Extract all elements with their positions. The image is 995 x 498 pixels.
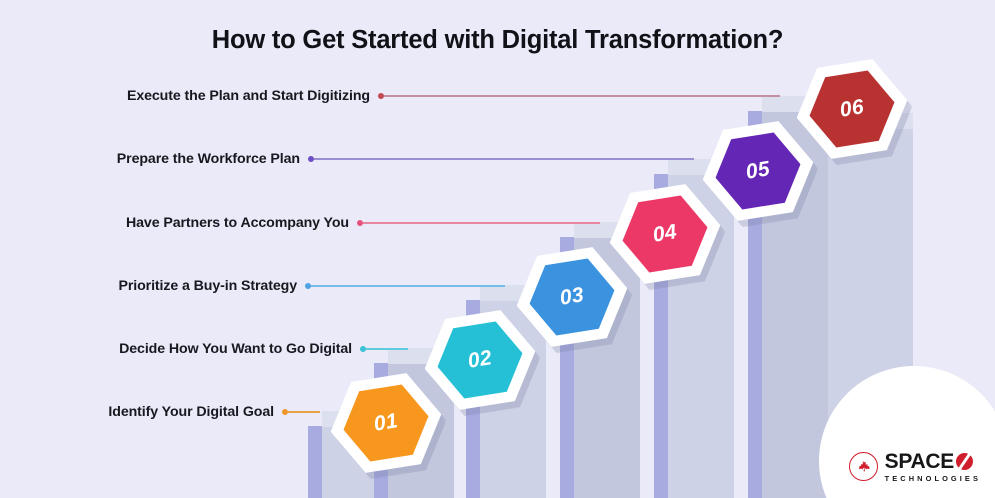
badge-number-06: 06 bbox=[838, 95, 866, 122]
logo-o-icon bbox=[956, 453, 973, 470]
logo-word-space: SPACE bbox=[885, 451, 954, 472]
badge-number-05: 05 bbox=[744, 157, 772, 184]
step-line-06 bbox=[384, 95, 780, 97]
column-left-face bbox=[308, 426, 322, 498]
step-line-02 bbox=[366, 348, 408, 350]
badge-number-03: 03 bbox=[558, 283, 586, 310]
brand-logo[interactable]: SPACE TECHNOLOGIES bbox=[849, 451, 981, 482]
infographic-canvas: How to Get Started with Digital Transfor… bbox=[0, 0, 995, 498]
badge-hexagon-fill: 05 bbox=[710, 128, 807, 215]
step-label-03: Prioritize a Buy-in Strategy bbox=[118, 278, 297, 294]
step-label-05: Prepare the Workforce Plan bbox=[117, 151, 300, 167]
badge-hexagon: 06 bbox=[789, 53, 915, 165]
step-label-06: Execute the Plan and Start Digitizing bbox=[127, 88, 370, 104]
badge-hexagon-fill: 01 bbox=[338, 380, 435, 467]
step-line-04 bbox=[363, 222, 600, 224]
badge-hexagon-fill: 02 bbox=[432, 317, 529, 404]
step-badge-06[interactable]: 06 bbox=[789, 53, 915, 165]
logo-subtitle: TECHNOLOGIES bbox=[885, 475, 981, 482]
step-row-02: Decide How You Want to Go Digital bbox=[80, 339, 408, 359]
step-row-04: Have Partners to Accompany You bbox=[80, 213, 600, 233]
badge-hexagon-fill: 06 bbox=[804, 66, 901, 153]
logo-wordmark: SPACE bbox=[885, 451, 981, 472]
step-label-04: Have Partners to Accompany You bbox=[126, 215, 349, 231]
logo-text: SPACE TECHNOLOGIES bbox=[885, 451, 981, 482]
step-label-02: Decide How You Want to Go Digital bbox=[119, 341, 352, 357]
maple-leaf-icon bbox=[849, 452, 878, 481]
step-row-05: Prepare the Workforce Plan bbox=[80, 149, 694, 169]
step-line-01 bbox=[288, 411, 320, 413]
badge-number-04: 04 bbox=[651, 220, 679, 247]
step-line-03 bbox=[311, 285, 505, 287]
badge-number-01: 01 bbox=[372, 409, 400, 436]
step-line-05 bbox=[314, 158, 694, 160]
step-row-06: Execute the Plan and Start Digitizing bbox=[80, 86, 780, 106]
badge-hexagon-fill: 03 bbox=[524, 254, 621, 341]
step-label-01: Identify Your Digital Goal bbox=[108, 404, 274, 420]
step-row-03: Prioritize a Buy-in Strategy bbox=[80, 276, 505, 296]
badge-hexagon-fill: 04 bbox=[617, 191, 714, 278]
page-title: How to Get Started with Digital Transfor… bbox=[0, 26, 995, 55]
badge-number-02: 02 bbox=[466, 346, 494, 373]
step-row-01: Identify Your Digital Goal bbox=[80, 402, 320, 422]
